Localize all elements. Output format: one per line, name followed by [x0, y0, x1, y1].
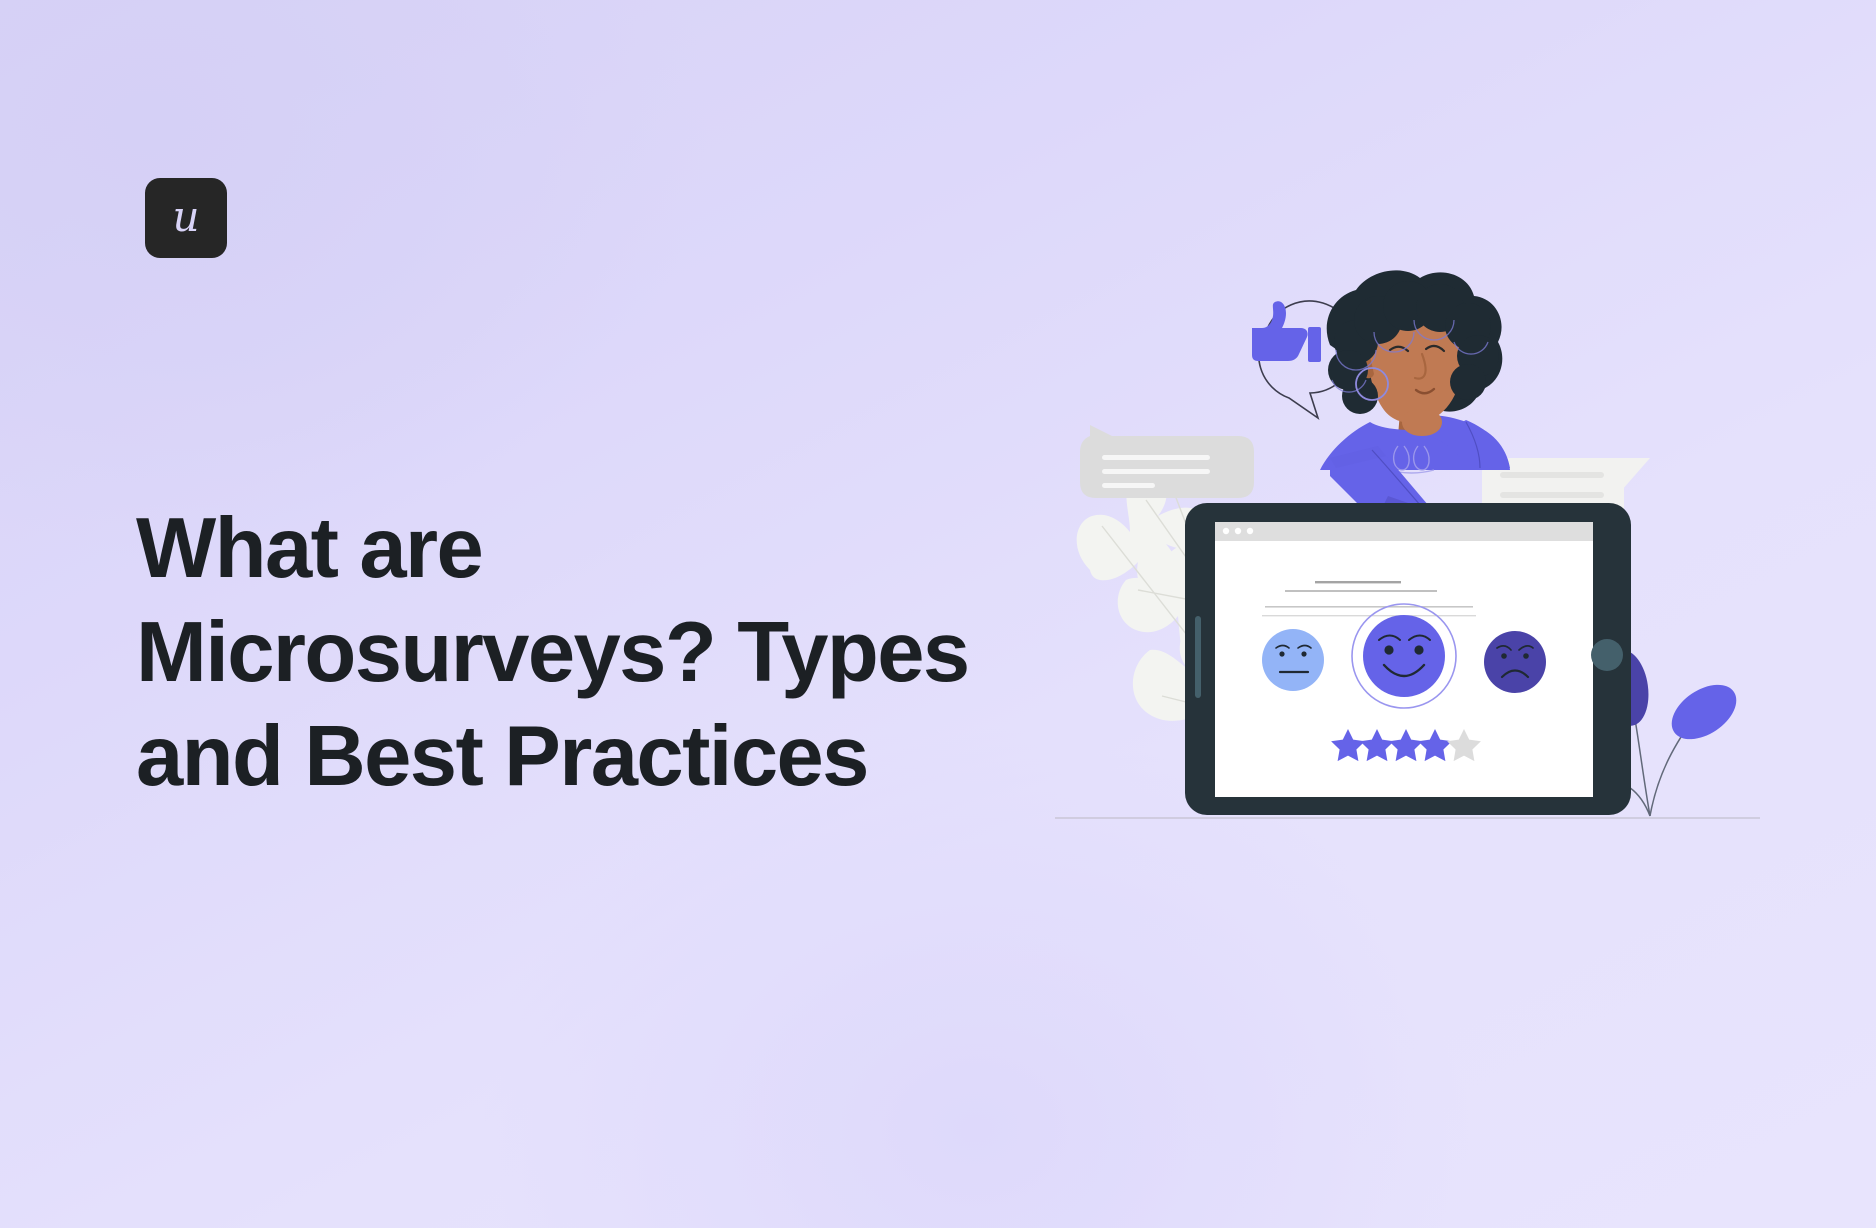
chat-bubble-left-line-1	[1102, 455, 1210, 460]
tablet-volume-button	[1195, 616, 1201, 698]
page-title-line-1: What are	[136, 497, 1016, 601]
chat-bubble-left	[1080, 425, 1254, 498]
chat-bubble-right-line-1	[1500, 472, 1604, 478]
face-neutral	[1262, 629, 1324, 691]
thumbs-up-icon	[1252, 301, 1321, 362]
userpilot-logo[interactable]: u	[145, 178, 227, 258]
page-title-line-2: Microsurveys? Types	[136, 601, 1016, 705]
logo-glyph: u	[172, 196, 199, 238]
chat-bubble-left-line-3	[1102, 483, 1155, 488]
tablet-device	[1185, 503, 1631, 815]
tablet-window-bar	[1215, 522, 1593, 541]
window-dots	[1223, 528, 1253, 534]
page-title: What are Microsurveys? Types and Best Pr…	[136, 497, 1016, 809]
tablet-home-button	[1591, 639, 1623, 671]
chat-bubble-right-line-2	[1500, 492, 1604, 498]
face-sad	[1484, 631, 1546, 693]
microsurvey-feedback-illustration	[1030, 250, 1830, 850]
hero-banner: u What are Microsurveys? Types and Best …	[0, 0, 1876, 1228]
face-happy	[1352, 604, 1456, 708]
chat-bubble-left-line-2	[1102, 469, 1210, 474]
page-title-line-3: and Best Practices	[136, 705, 1016, 809]
plant-leaf-2	[1662, 674, 1746, 751]
